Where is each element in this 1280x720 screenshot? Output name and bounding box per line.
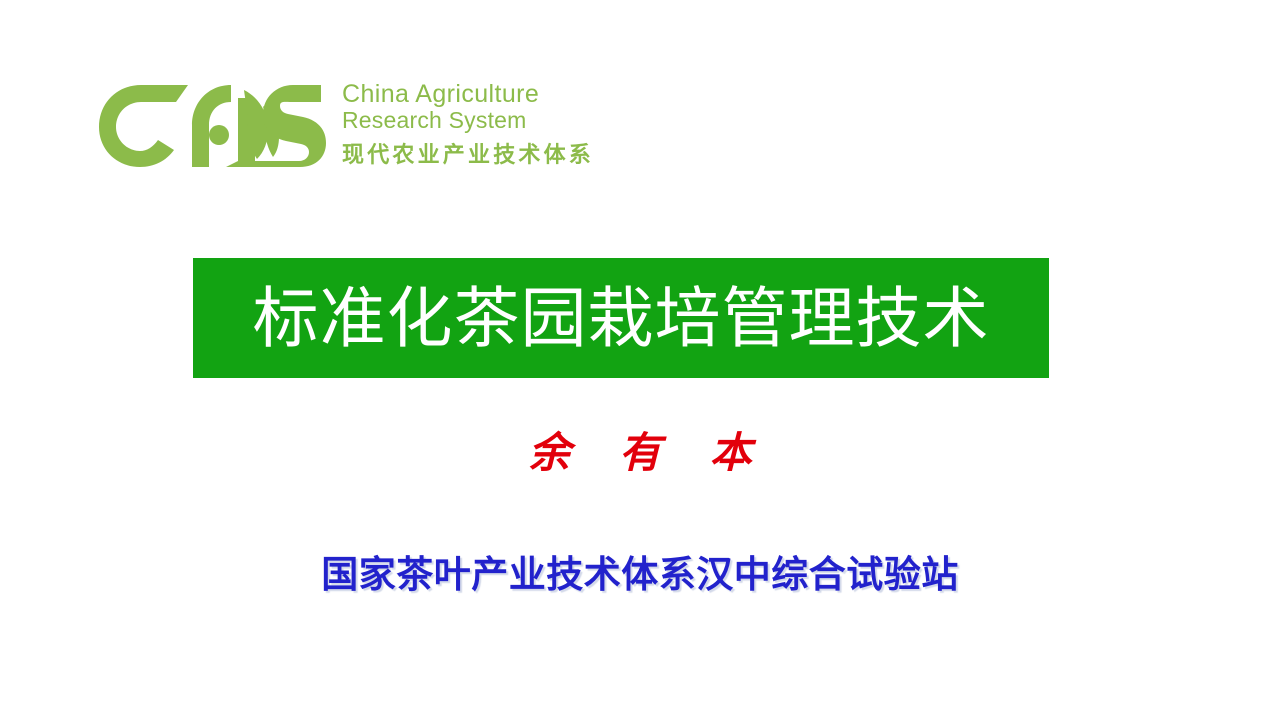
logo-chinese-line: 现代农业产业技术体系 (342, 137, 594, 169)
logo-english-line1: China Agriculture (342, 81, 594, 108)
affiliation-text: 国家茶叶产业技术体系汉中综合试验站 (0, 552, 1280, 598)
cars-logo-mark (88, 78, 326, 170)
presenter-name: 余 有 本 (0, 428, 1280, 478)
title-slide: China Agriculture Research System 现代农业产业… (0, 0, 1280, 720)
cars-logo-wordmark: China Agriculture Research System 现代农业产业… (342, 79, 594, 170)
cars-logo: China Agriculture Research System 现代农业产业… (88, 78, 594, 170)
logo-english-line2: Research System (342, 108, 594, 133)
title-band: 标准化茶园栽培管理技术 (193, 258, 1049, 378)
slide-title: 标准化茶园栽培管理技术 (253, 285, 990, 351)
